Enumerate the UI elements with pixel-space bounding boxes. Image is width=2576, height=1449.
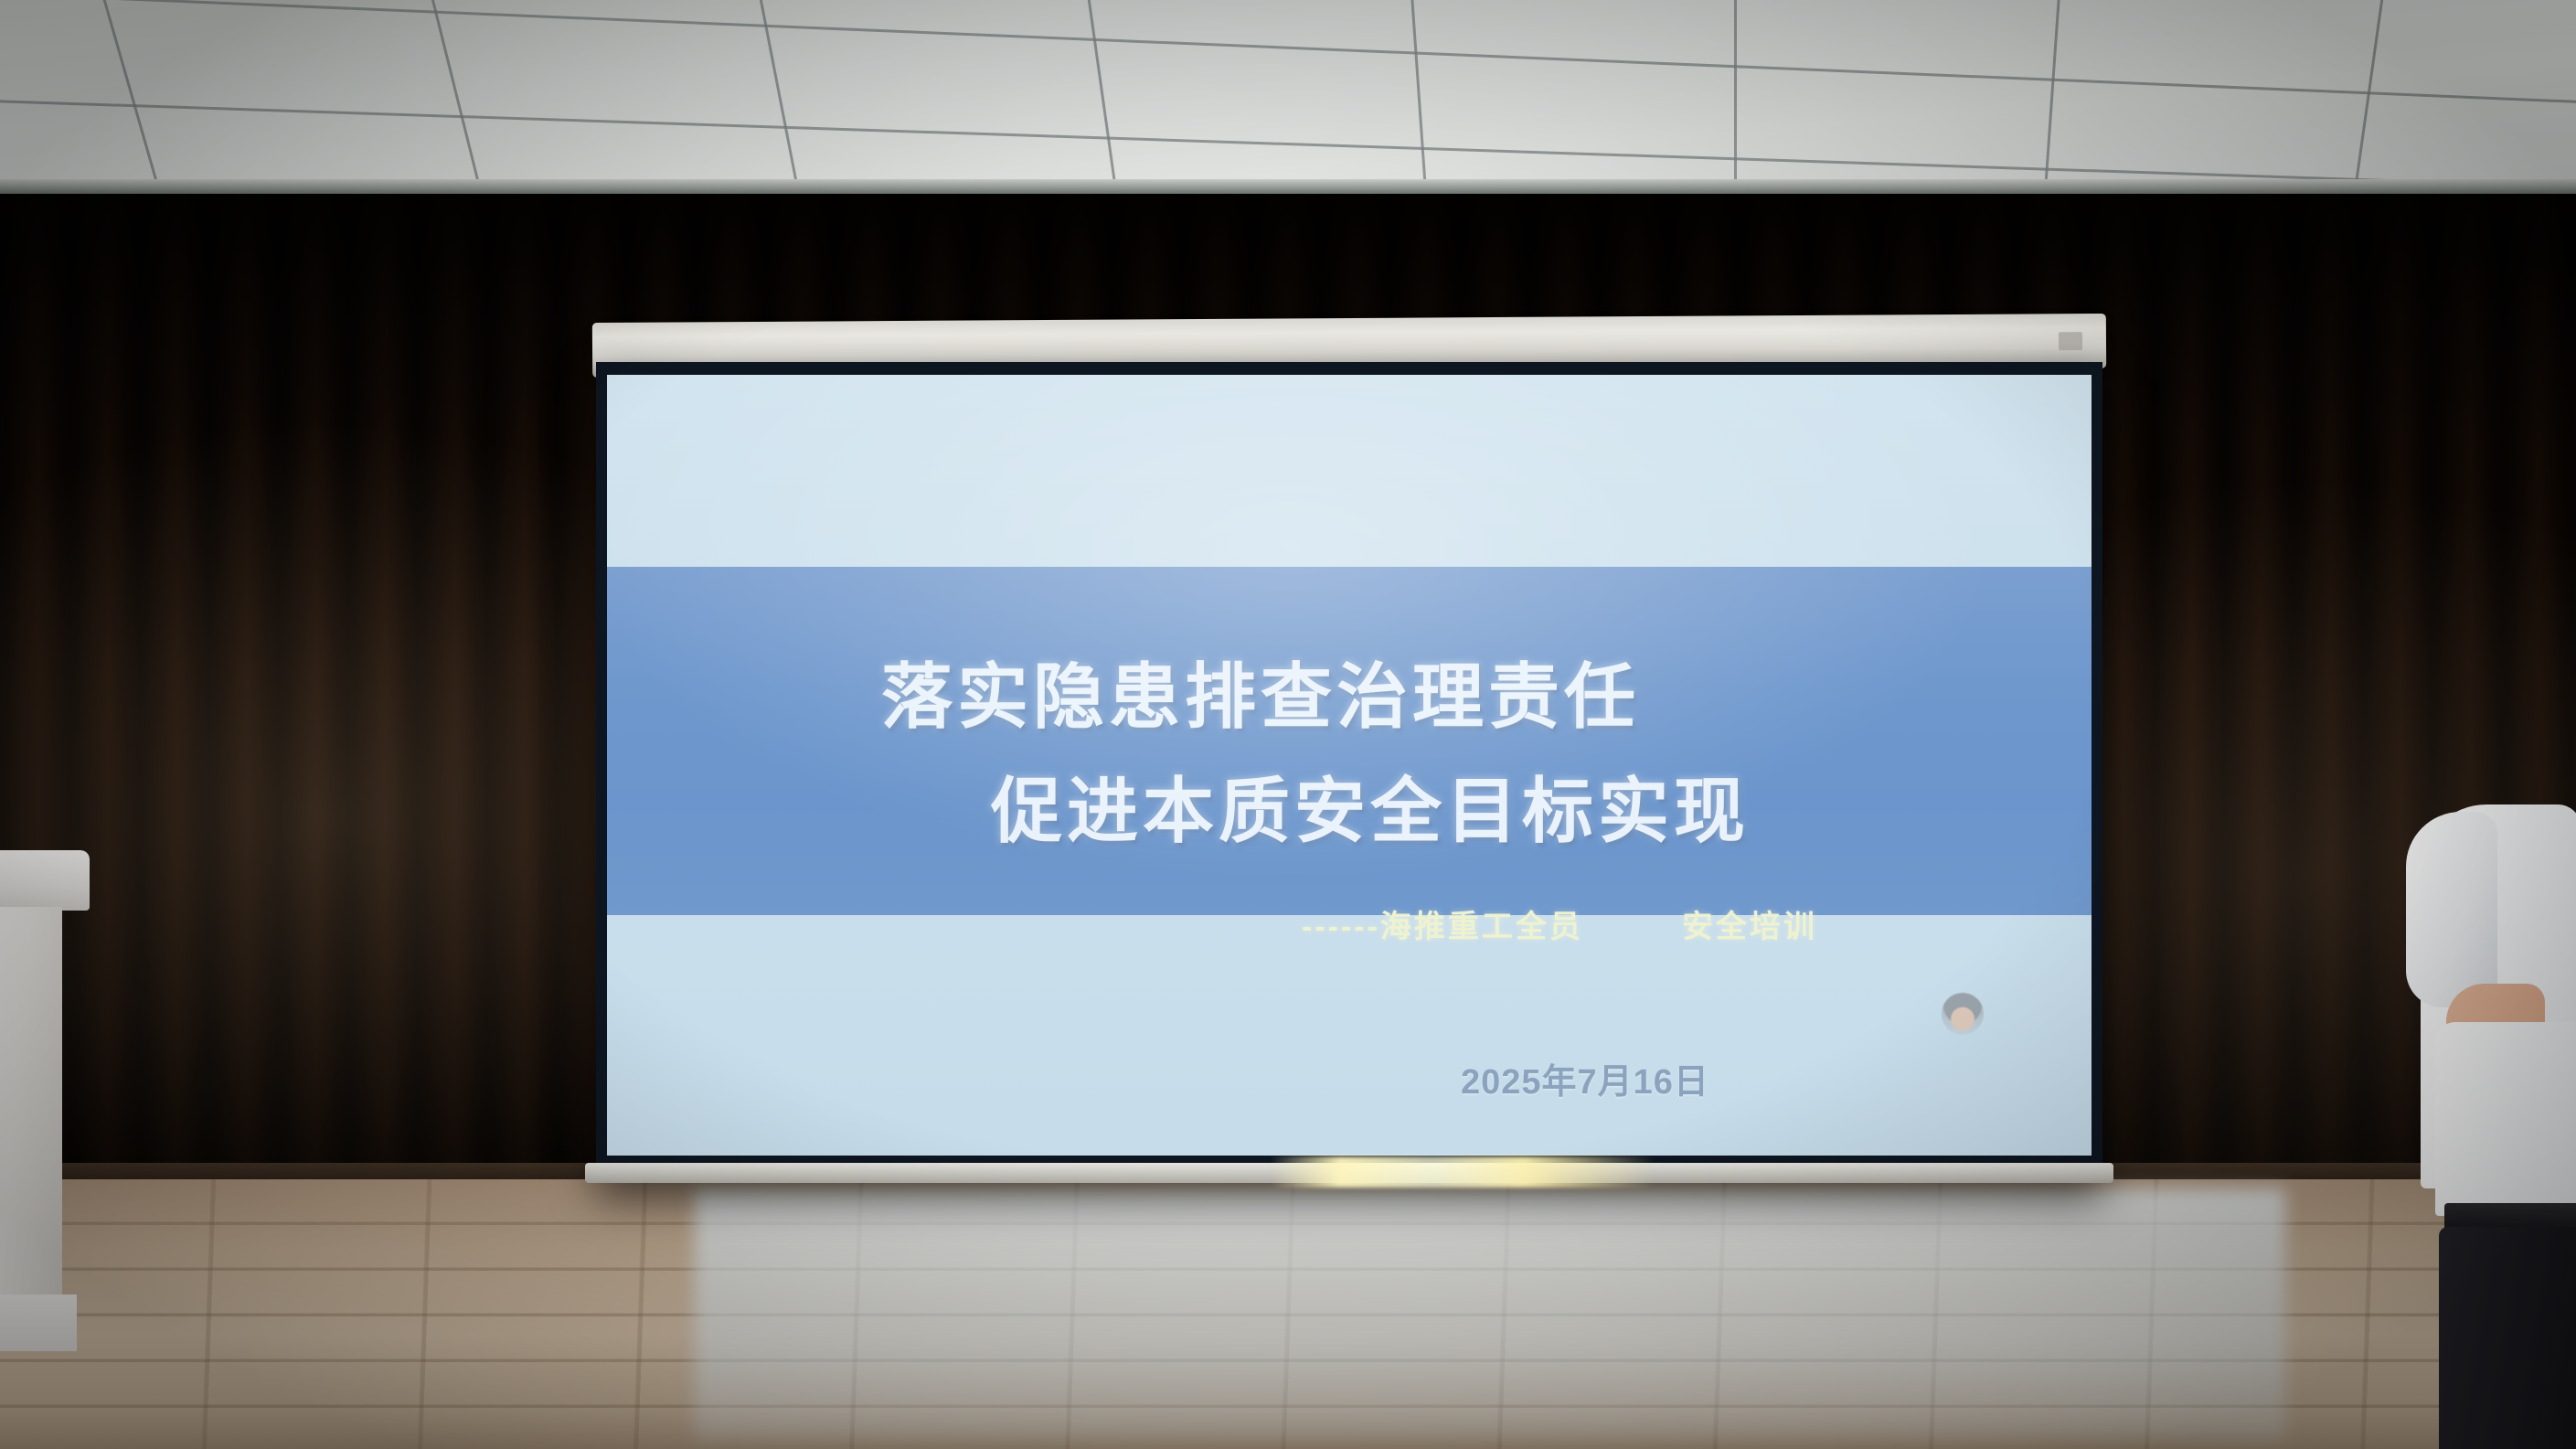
presentation-slide: 落实隐患排查治理责任 促进本质安全目标实现 ------海推重工全员 安全培训 … [607, 375, 2092, 1156]
housing-label-sticker [2059, 332, 2082, 350]
white-lectern [0, 850, 90, 1362]
attendee-sleeve [2406, 812, 2497, 1007]
slide-title-line-1: 落实隐患排查治理责任 [881, 640, 1640, 742]
projection-screen: 落实隐患排查治理责任 促进本质安全目标实现 ------海推重工全员 安全培训 … [596, 362, 2102, 1183]
slide-subtitle-row: ------海推重工全员 安全培训 [1302, 901, 1817, 946]
curtain-rail [0, 179, 2576, 194]
lectern-body [0, 907, 62, 1300]
attendee-trousers [2439, 1227, 2576, 1449]
slide-subtitle-right: 安全培训 [1682, 901, 1817, 946]
presenter-avatar-watermark-icon [1942, 993, 1984, 1035]
standing-attendee [2406, 804, 2576, 1449]
screen-bottom-glare [1271, 1156, 1655, 1188]
attendee-shirt-hem [2435, 1022, 2576, 1216]
lectern-top [0, 850, 90, 911]
slide-date: 2025年7月16日 [1461, 1053, 1709, 1103]
slide-title-line-2: 促进本质安全目标实现 [991, 754, 1750, 857]
lectern-base [0, 1295, 77, 1351]
conference-room-photo: 落实隐患排查治理责任 促进本质安全目标实现 ------海推重工全员 安全培训 … [0, 0, 2576, 1449]
slide-subtitle-left: ------海推重工全员 [1302, 901, 1583, 946]
projector-light-spill-on-floor [695, 1188, 2285, 1440]
